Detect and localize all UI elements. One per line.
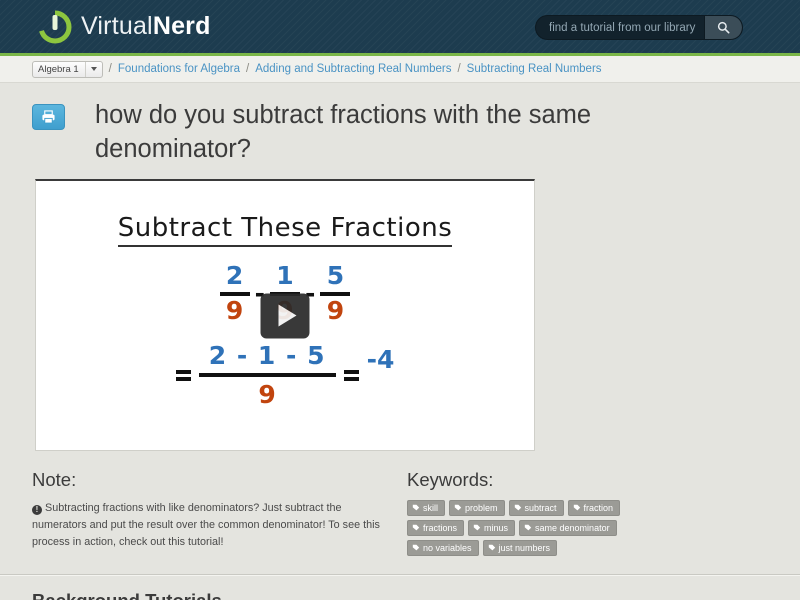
tag-icon <box>473 524 481 532</box>
logo-text: VirtualNerd <box>81 12 211 41</box>
keyword-tag-label: fractions <box>423 523 457 533</box>
keyword-tag-label: fraction <box>584 503 614 513</box>
keyword-tag[interactable]: problem <box>449 500 505 516</box>
keyword-tag[interactable]: no variables <box>407 540 479 556</box>
keyword-tag[interactable]: subtract <box>509 500 564 516</box>
tag-icon <box>524 524 532 532</box>
power-icon <box>38 10 72 44</box>
fraction-3-denominator: 9 <box>327 298 344 324</box>
fraction-1-denominator: 9 <box>226 298 243 324</box>
fraction-3-bar <box>320 292 350 296</box>
note-heading: Note: <box>32 469 407 491</box>
note-section: Note: !Subtracting fractions with like d… <box>32 469 407 556</box>
breadcrumb-item-2[interactable]: Subtracting Real Numbers <box>467 63 602 75</box>
course-select-label: Algebra 1 <box>38 64 79 75</box>
play-icon <box>278 305 296 327</box>
background-tutorials-heading: Background Tutorials <box>0 576 800 600</box>
tag-icon <box>573 504 581 512</box>
result-denominator: 9 <box>258 380 275 409</box>
keyword-tag[interactable]: same denominator <box>519 520 617 536</box>
equals-sign-1 <box>176 370 191 381</box>
tag-icon <box>412 504 420 512</box>
keyword-tag[interactable]: fractions <box>407 520 464 536</box>
keywords-heading: Keywords: <box>407 469 647 491</box>
result-numerator: 2 - 1 - 5 <box>209 341 326 370</box>
note-body-wrap: !Subtracting fractions with like denomin… <box>32 500 384 550</box>
keyword-tag[interactable]: fraction <box>568 500 621 516</box>
search-input[interactable] <box>536 22 704 34</box>
breadcrumb-item-0[interactable]: Foundations for Algebra <box>118 63 240 75</box>
title-row: how do you subtract fractions with the s… <box>0 83 800 166</box>
course-select[interactable]: Algebra 1 <box>32 61 103 78</box>
keyword-tag-label: just numbers <box>499 543 551 553</box>
search-box[interactable] <box>535 15 743 40</box>
logo-text-bold: Nerd <box>153 12 211 40</box>
equals-sign-2 <box>344 370 359 381</box>
info-icon: ! <box>32 505 42 515</box>
tag-icon <box>454 504 462 512</box>
keywords-section: Keywords: skill problem subtract fractio… <box>407 469 647 556</box>
breadcrumb-item-1[interactable]: Adding and Subtracting Real Numbers <box>255 63 451 75</box>
breadcrumb-separator: / <box>246 63 249 75</box>
keyword-tag-label: no variables <box>423 543 472 553</box>
result-bar <box>199 373 336 377</box>
fraction-2-numerator: 1 <box>276 263 293 289</box>
tag-icon <box>514 504 522 512</box>
keyword-tag-label: subtract <box>525 503 557 513</box>
equation-line-2: 2 - 1 - 5 9 -4 <box>36 341 534 409</box>
note-body: Subtracting fractions with like denomina… <box>32 502 380 547</box>
keyword-tag[interactable]: skill <box>407 500 445 516</box>
play-button[interactable] <box>261 293 310 338</box>
print-button[interactable] <box>32 104 65 130</box>
keyword-tag[interactable]: just numbers <box>483 540 558 556</box>
site-logo[interactable]: VirtualNerd <box>38 10 211 44</box>
logo-text-light: Virtual <box>81 12 153 40</box>
fraction-1: 2 9 <box>220 263 250 324</box>
fraction-1-bar <box>220 292 250 296</box>
breadcrumb-separator: / <box>109 63 112 75</box>
chevron-down-icon <box>85 62 102 77</box>
breadcrumb: Algebra 1 / Foundations for Algebra / Ad… <box>0 56 800 83</box>
keyword-tag-label: skill <box>423 503 438 513</box>
keyword-tag-label: problem <box>465 503 498 513</box>
breadcrumb-separator: / <box>457 63 460 75</box>
fraction-1-numerator: 2 <box>226 263 243 289</box>
search-button[interactable] <box>704 15 742 40</box>
result-fraction: 2 - 1 - 5 9 <box>199 341 336 409</box>
search-icon <box>717 21 730 34</box>
keyword-tag-list: skill problem subtract fraction fraction… <box>407 500 632 556</box>
answer-value: -4 <box>367 345 395 374</box>
video-slide-title: Subtract These Fractions <box>36 213 534 243</box>
printer-icon <box>41 110 56 124</box>
tag-icon <box>488 544 496 552</box>
lower-section: Note: !Subtracting fractions with like d… <box>0 451 800 556</box>
page-title: how do you subtract fractions with the s… <box>95 99 615 166</box>
fraction-3-numerator: 5 <box>327 263 344 289</box>
tag-icon <box>412 524 420 532</box>
page-content: how do you subtract fractions with the s… <box>0 83 800 600</box>
tag-icon <box>412 544 420 552</box>
fraction-3: 5 9 <box>320 263 350 324</box>
keyword-tag-label: same denominator <box>535 523 610 533</box>
keyword-tag-label: minus <box>484 523 508 533</box>
video-player[interactable]: Subtract These Fractions 2 9 - 1 9 - 5 9 <box>35 179 535 451</box>
keyword-tag[interactable]: minus <box>468 520 515 536</box>
site-header: VirtualNerd <box>0 0 800 56</box>
